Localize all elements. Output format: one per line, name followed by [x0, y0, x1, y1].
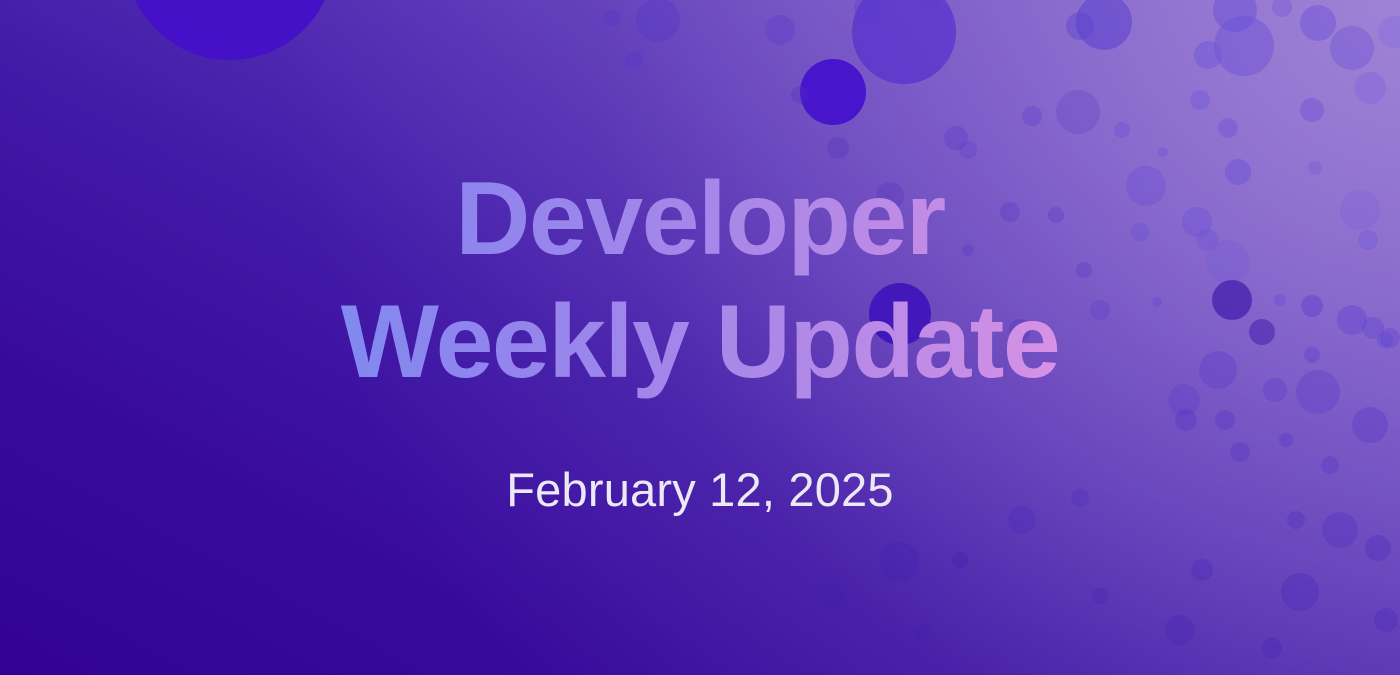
title-line-2: Weekly Update: [341, 281, 1059, 404]
title-line-1: Developer: [341, 158, 1059, 281]
slide-content: Developer Weekly Update February 12, 202…: [0, 0, 1400, 675]
slide-canvas: Developer Weekly Update February 12, 202…: [0, 0, 1400, 675]
slide-date: February 12, 2025: [506, 462, 893, 517]
page-title: Developer Weekly Update: [341, 158, 1059, 403]
